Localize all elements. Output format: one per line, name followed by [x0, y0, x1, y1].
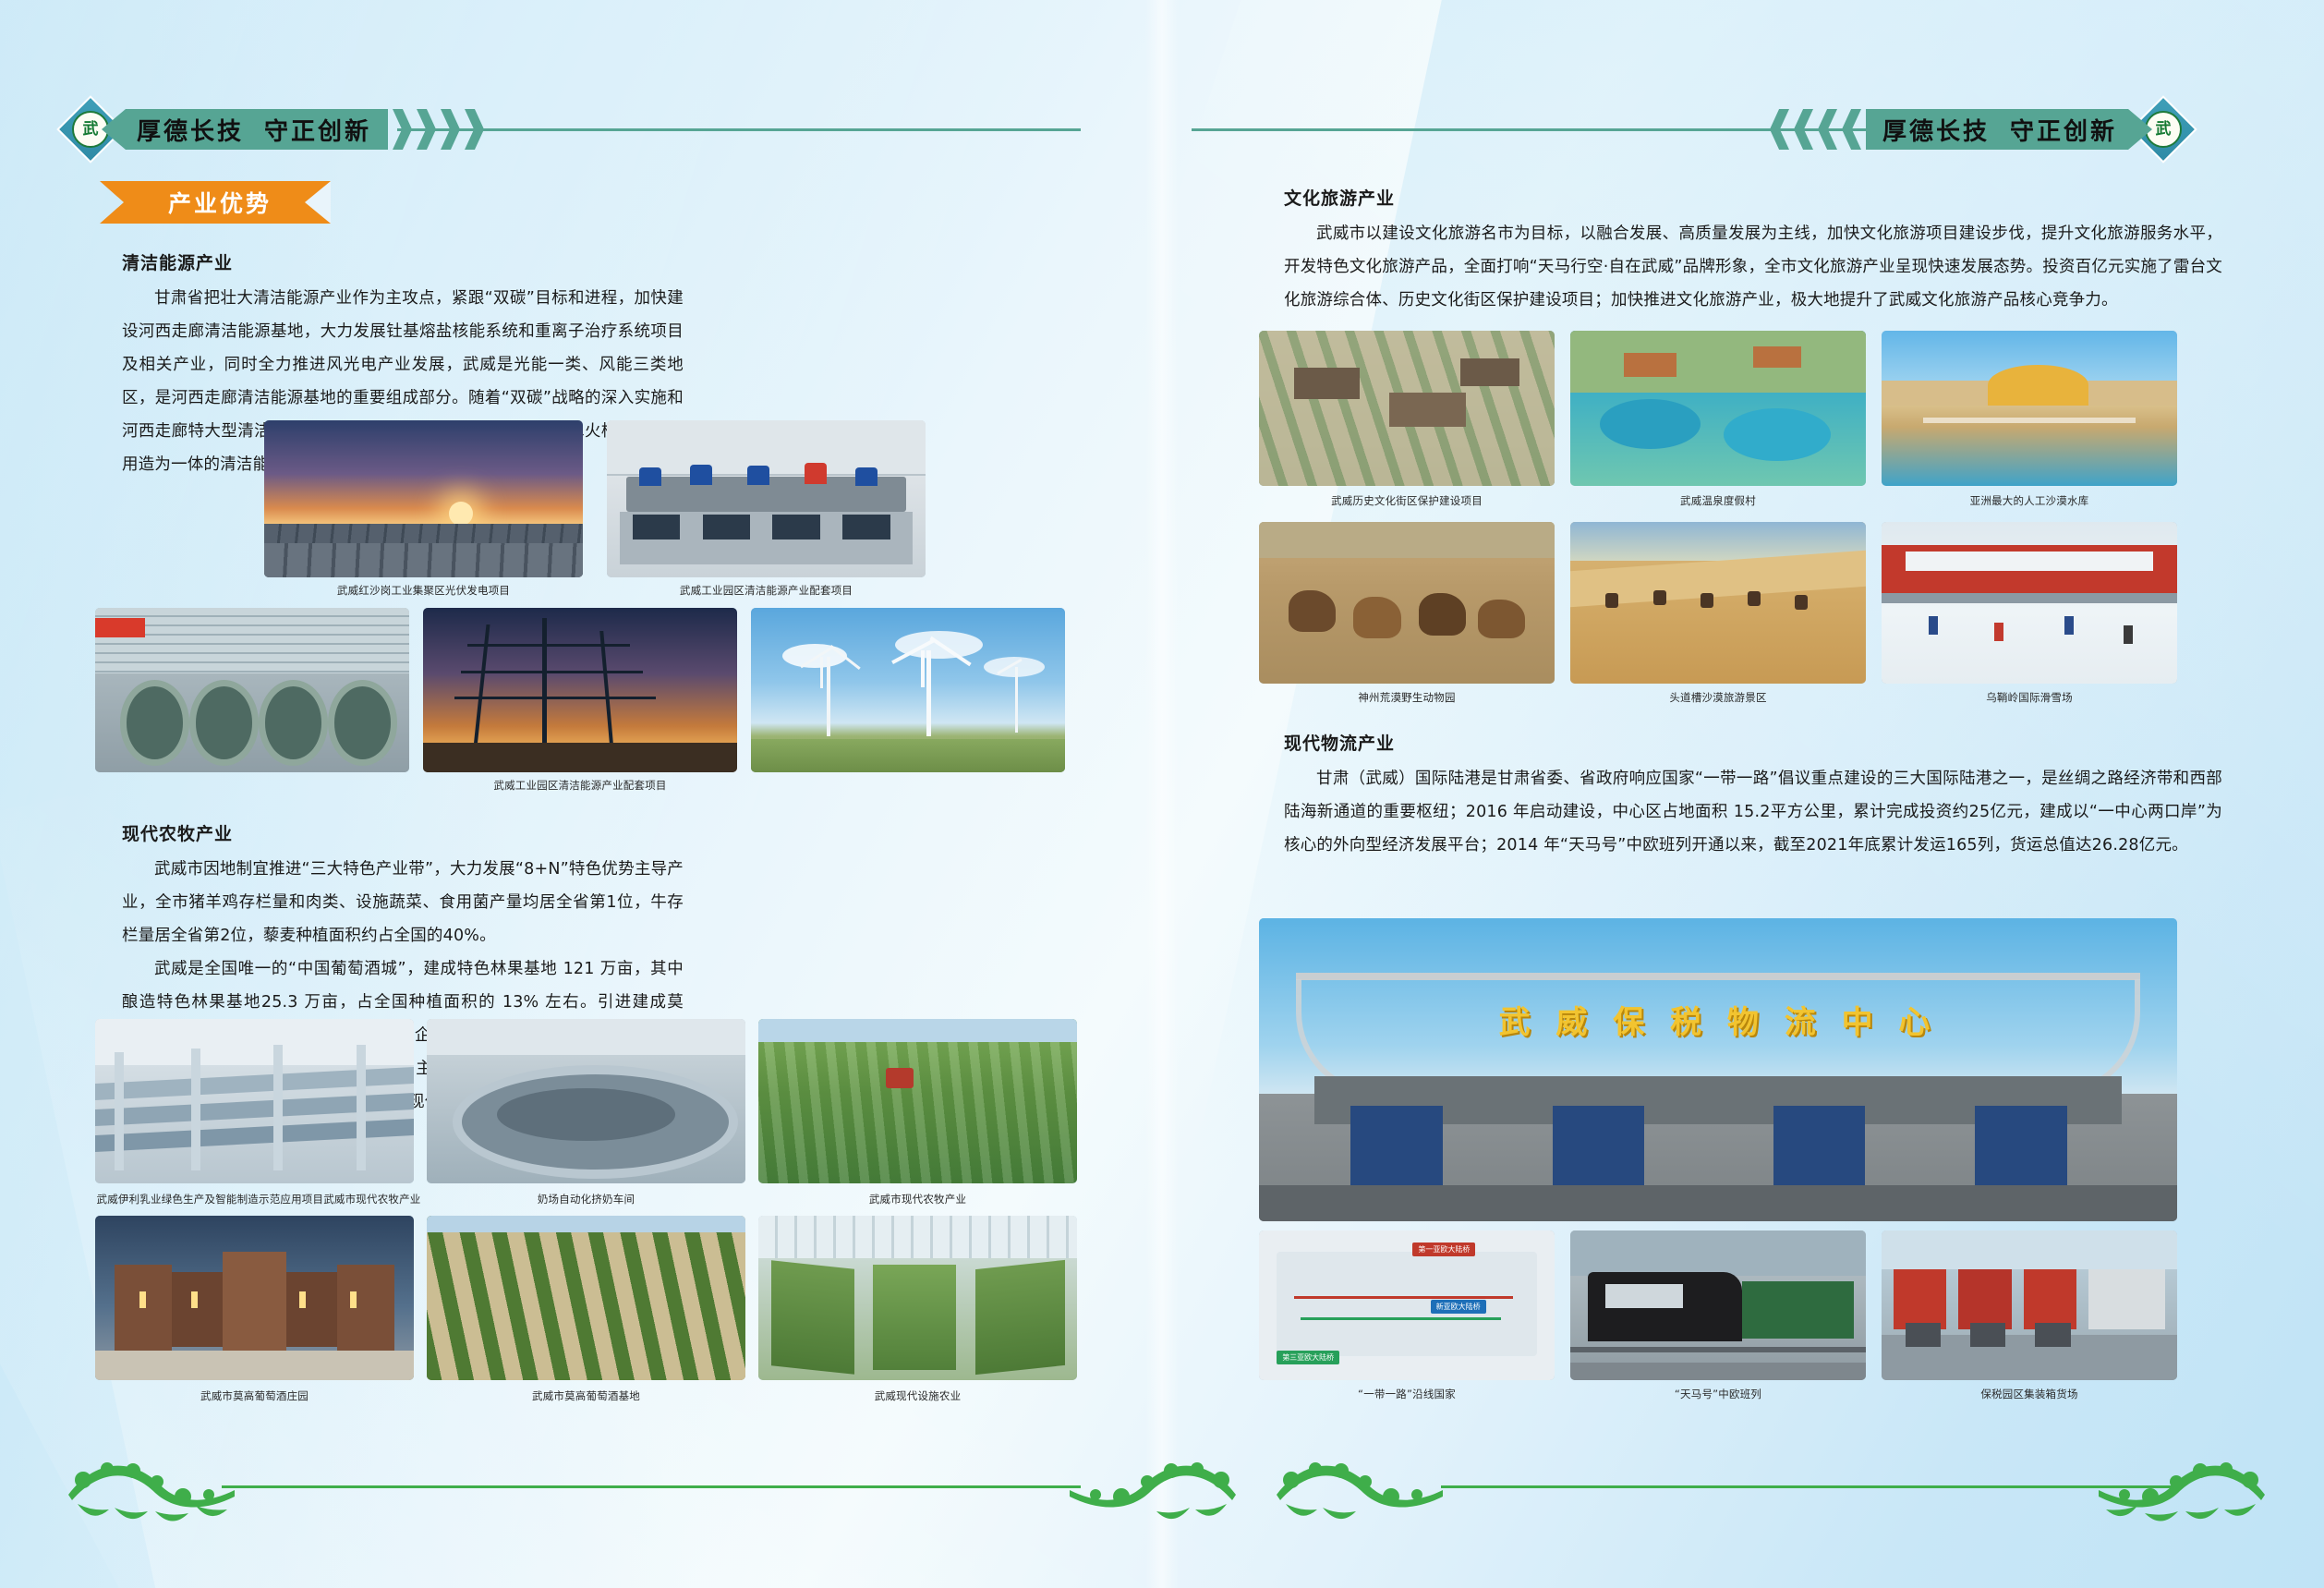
section-heading-agriculture: 现代农牧产业 [122, 820, 684, 845]
section-body-tourism: 武威市以建设文化旅游名市为目标，以融合发展、高质量发展为主线，加快文化旅游项目建… [1284, 217, 2222, 317]
map-label-bottom: 第三亚欧大陆桥 [1277, 1351, 1339, 1364]
photo-farmland-crops [758, 1019, 1077, 1183]
ribbon-label: 产业优势 [168, 186, 272, 219]
photo-caption: 武威伊利乳业绿色生产及智能制造示范应用项目武威市现代农牧产业 [65, 1192, 453, 1206]
section-ribbon-industry-advantages: 产业优势 [100, 181, 331, 224]
section-body-agriculture-1: 武威市因地制宜推进“三大特色产业带”，大力发展“8+N”特色优势主导产业，全市猪… [122, 853, 684, 952]
header-bar-right: 厚德长技守正创新 [1866, 109, 2152, 150]
photo-rotary-milking-parlor [427, 1019, 745, 1183]
photo-control-room [607, 420, 926, 577]
hero-sign-text: 武 威 保 税 物 流 中 心 [1259, 997, 2177, 1042]
section-heading-tourism: 文化旅游产业 [1284, 185, 2222, 210]
section-body-logistics: 甘肃（武威）国际陆港是甘肃省委、省政府响应国家“一带一路”倡议重点建设的三大国际… [1284, 762, 2222, 862]
photo-caption: 武威工业园区清洁能源产业配套项目 [607, 583, 926, 598]
photo-caption: 亚洲最大的人工沙漠水库 [1882, 493, 2177, 508]
photo-caption: 头道槽沙漠旅游景区 [1570, 690, 1866, 705]
footer-rule-right [1441, 1485, 2180, 1488]
photo-caption: 武威历史文化街区保护建设项目 [1259, 493, 1555, 508]
section-culture-tourism: 文化旅游产业 武威市以建设文化旅游名市为目标，以融合发展、高质量发展为主线，加快… [1284, 185, 2222, 317]
footer-rule-left [222, 1485, 1081, 1488]
photo-power-transmission-tower [423, 608, 737, 772]
photo-vineyard-rows [427, 1216, 745, 1380]
photo-historic-district-aerial [1259, 331, 1555, 486]
photo-solar-farm-sunset [264, 420, 583, 577]
header-rule-right [1192, 128, 1875, 131]
photo-hot-spring-resort [1570, 331, 1866, 486]
footer-vine-ornament-right [2089, 1439, 2274, 1541]
header-bar-left: 厚德长技守正创新 [102, 109, 388, 150]
photo-wind-turbines [751, 608, 1065, 772]
photo-greenhouse-interior [758, 1216, 1077, 1380]
photo-freight-train [1570, 1230, 1866, 1380]
section-modern-logistics: 现代物流产业 甘肃（武威）国际陆港是甘肃省委、省政府响应国家“一带一路”倡议重点… [1284, 730, 2222, 862]
photo-caption: “一带一路”沿线国家 [1259, 1387, 1555, 1401]
ribbon-notch [305, 181, 331, 224]
photo-desert-reservoir [1882, 331, 2177, 486]
photo-pipe-factory [95, 608, 409, 772]
section-heading-logistics: 现代物流产业 [1284, 730, 2222, 755]
footer-vine-ornament-right-inner [1267, 1439, 1452, 1541]
photo-caption: “天马号”中欧班列 [1570, 1387, 1866, 1401]
map-label-mid: 新亚欧大陆桥 [1431, 1300, 1486, 1314]
photo-caption: 奶场自动化挤奶车间 [427, 1192, 745, 1206]
photo-dairy-production-line [95, 1019, 414, 1183]
section-heading-clean-energy: 清洁能源产业 [122, 249, 684, 274]
photo-wild-horses [1259, 522, 1555, 684]
photo-bonded-logistics-center: 武 威 保 税 物 流 中 心 [1259, 918, 2177, 1221]
photo-container-yard [1882, 1230, 2177, 1380]
footer-vine-ornament-left [59, 1439, 244, 1541]
photo-ski-resort [1882, 522, 2177, 684]
header-title-right: 厚德长技守正创新 [1882, 113, 2117, 147]
photo-caption: 武威现代设施农业 [758, 1388, 1077, 1403]
photo-winery-chateau [95, 1216, 414, 1380]
page-fold-highlight [1145, 0, 1179, 1588]
photo-caption: 武威市莫高葡萄酒基地 [427, 1388, 745, 1403]
photo-belt-and-road-map: 第一亚欧大陆桥 新亚欧大陆桥 第三亚欧大陆桥 [1259, 1230, 1555, 1380]
header-rule-left [397, 128, 1081, 131]
header-title-left: 厚德长技守正创新 [137, 113, 371, 147]
photo-caption: 武威市现代农牧产业 [758, 1192, 1077, 1206]
photo-camel-caravan-desert [1570, 522, 1866, 684]
photo-caption: 保税园区集装箱货场 [1882, 1387, 2177, 1401]
photo-caption: 神州荒漠野生动物园 [1259, 690, 1555, 705]
photo-caption: 武威工业园区清洁能源产业配套项目 [423, 778, 737, 793]
photo-caption: 乌鞘岭国际滑雪场 [1882, 690, 2177, 705]
footer-vine-ornament-left-inner [1060, 1439, 1245, 1541]
photo-caption: 武威市莫高葡萄酒庄园 [95, 1388, 414, 1403]
photo-caption: 武威红沙岗工业集聚区光伏发电项目 [264, 583, 583, 598]
map-label-top: 第一亚欧大陆桥 [1412, 1243, 1475, 1256]
photo-caption: 武威温泉度假村 [1570, 493, 1866, 508]
